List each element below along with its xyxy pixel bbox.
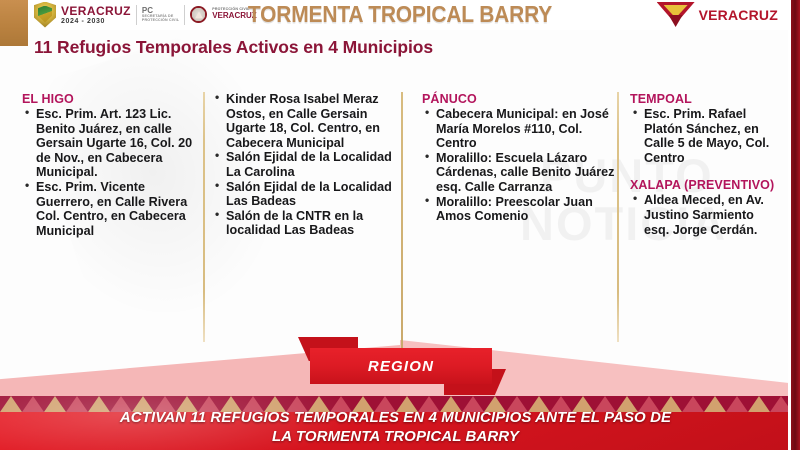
tan-corner-block xyxy=(0,0,28,46)
column-divider-1 xyxy=(203,92,205,342)
ribbon-pole xyxy=(401,92,403,367)
shelter-list: Esc. Prim. Rafael Platón Sánchez, en Cal… xyxy=(630,107,780,165)
list-item: Esc. Prim. Rafael Platón Sánchez, en Cal… xyxy=(630,107,780,165)
ribbon-body: REGION xyxy=(310,348,492,384)
list-item: Esc. Prim. Vicente Guerrero, en Calle Ri… xyxy=(22,180,202,238)
region-ribbon: REGION xyxy=(298,337,506,395)
municipality-heading-secondary: XALAPA (PREVENTIVO) xyxy=(630,178,780,192)
list-item: Salón de la CNTR en la localidad Las Bad… xyxy=(212,209,392,238)
footer-banner: ACTIVAN 11 REFUGIOS TEMPORALES EN 4 MUNI… xyxy=(0,396,791,450)
list-item: Kinder Rosa Isabel Meraz Ostos, en Calle… xyxy=(212,92,392,150)
shelter-list: Esc. Prim. Art. 123 Lic. Benito Juárez, … xyxy=(22,107,202,238)
column-el-higo-continued: Kinder Rosa Isabel Meraz Ostos, en Calle… xyxy=(212,92,392,238)
shelter-list: Cabecera Municipal: en José María Morelo… xyxy=(422,107,618,224)
shelter-columns: EL HIGO Esc. Prim. Art. 123 Lic. Benito … xyxy=(0,92,791,342)
footer-caption-line-1: ACTIVAN 11 REFUGIOS TEMPORALES EN 4 MUNI… xyxy=(120,409,671,426)
infographic-stage: PUNTO NOTICIA VERACRUZ 2024 - 2030 PC SE… xyxy=(0,0,800,450)
subtitle-heading: 11 Refugios Temporales Activos en 4 Muni… xyxy=(34,37,433,58)
shelter-list: Kinder Rosa Isabel Meraz Ostos, en Calle… xyxy=(212,92,392,238)
list-item: Aldea Meced, en Av. Justino Sarmiento es… xyxy=(630,193,780,237)
shelter-list-secondary: Aldea Meced, en Av. Justino Sarmiento es… xyxy=(630,193,780,237)
header-right-logo: VERACRUZ xyxy=(657,0,778,30)
header-bar: VERACRUZ 2024 - 2030 PC SECRETARÍA DE PR… xyxy=(0,0,800,30)
column-el-higo: EL HIGO Esc. Prim. Art. 123 Lic. Benito … xyxy=(22,92,202,238)
footer-caption: ACTIVAN 11 REFUGIOS TEMPORALES EN 4 MUNI… xyxy=(0,409,791,447)
list-item: Moralillo: Escuela Lázaro Cárdenas, call… xyxy=(422,151,618,195)
ribbon-label: REGION xyxy=(368,358,434,375)
municipality-heading: PÁNUCO xyxy=(422,92,618,106)
right-edge-border xyxy=(791,0,800,450)
right-logo-label: VERACRUZ xyxy=(699,7,778,23)
list-item: Cabecera Municipal: en José María Morelo… xyxy=(422,107,618,151)
chevron-emblem-icon xyxy=(657,0,695,30)
column-tempoal-xalapa: TEMPOAL Esc. Prim. Rafael Platón Sánchez… xyxy=(630,92,780,237)
list-item: Esc. Prim. Art. 123 Lic. Benito Juárez, … xyxy=(22,107,202,180)
list-item: Moralillo: Preescolar Juan Amos Comenio xyxy=(422,195,618,224)
footer-caption-line-2: LA TORMENTA TROPICAL BARRY xyxy=(0,428,791,447)
list-item: Salón Ejidal de la Localidad La Carolina xyxy=(212,150,392,179)
column-panuco: PÁNUCO Cabecera Municipal: en José María… xyxy=(422,92,618,224)
municipality-heading: TEMPOAL xyxy=(630,92,780,106)
municipality-heading: EL HIGO xyxy=(22,92,202,106)
list-item: Salón Ejidal de la Localidad Las Badeas xyxy=(212,180,392,209)
